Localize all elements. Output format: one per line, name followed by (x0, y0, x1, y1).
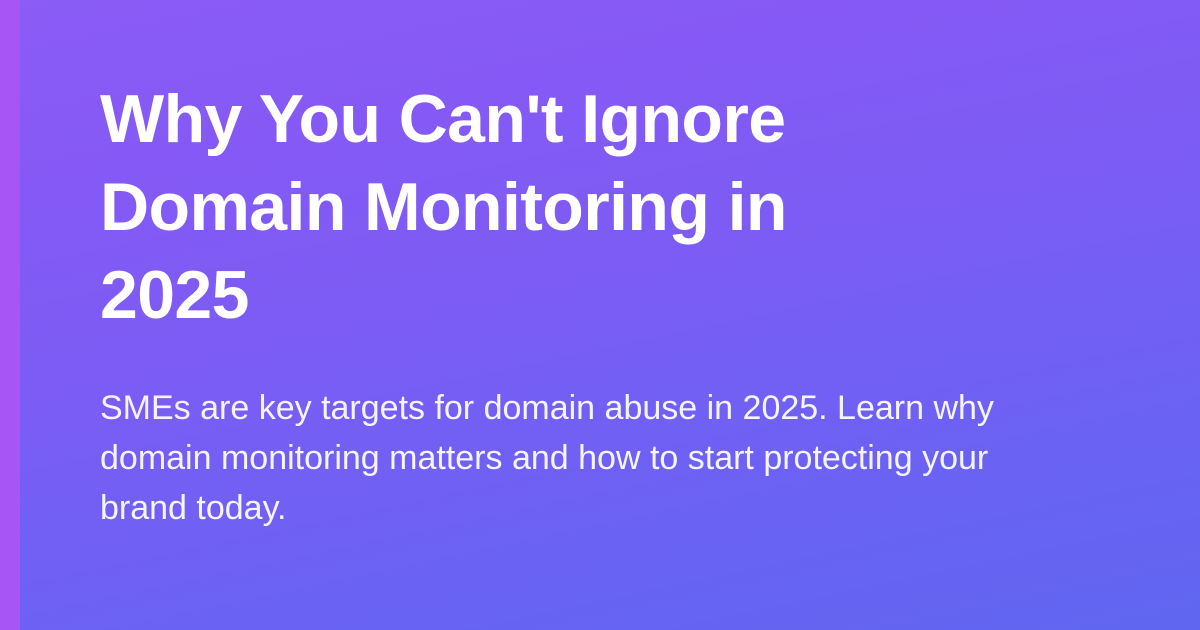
page-subtitle: SMEs are key targets for domain abuse in… (100, 383, 1040, 533)
card-content: Why You Can't Ignore Domain Monitoring i… (100, 0, 1060, 630)
og-card: Why You Can't Ignore Domain Monitoring i… (0, 0, 1200, 630)
left-accent-strip (0, 0, 20, 630)
page-title: Why You Can't Ignore Domain Monitoring i… (100, 75, 890, 339)
